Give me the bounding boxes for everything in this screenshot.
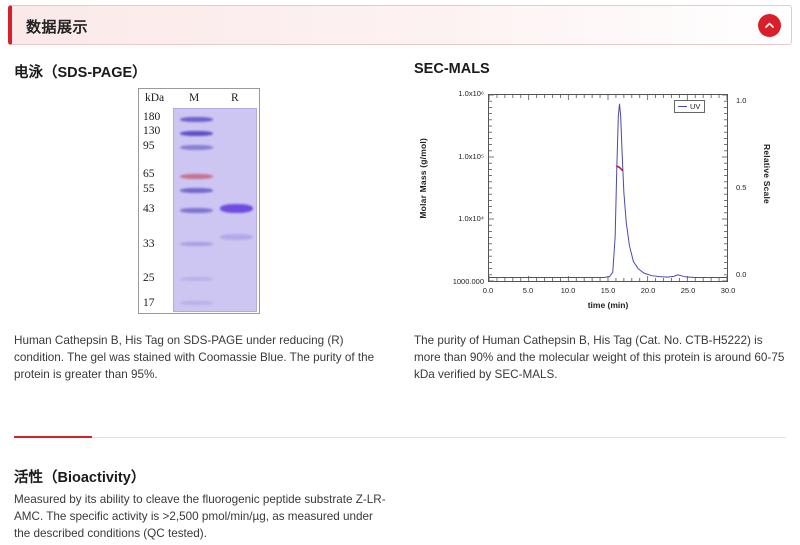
chart-x-tick: 0.0 bbox=[473, 286, 503, 295]
data-display-panel-header: 数据展示 bbox=[8, 5, 792, 45]
bioactivity-caption: Measured by its ability to cleave the fl… bbox=[14, 491, 389, 542]
chart-y-axis-label-left: Molar Mass (g/mol) bbox=[418, 138, 432, 219]
gel-ladder-band bbox=[180, 277, 213, 281]
chart-axis-tickmarks bbox=[489, 95, 727, 281]
chart-x-tick: 15.0 bbox=[593, 286, 623, 295]
chart-y-tick-left: 1000.000 bbox=[424, 277, 484, 286]
gel-ladder-band bbox=[180, 117, 213, 122]
gel-ladder-band bbox=[180, 174, 213, 179]
chart-legend[interactable]: UV bbox=[674, 100, 705, 113]
gel-marker-label: 33 bbox=[143, 238, 155, 250]
gel-lane-header-r: R bbox=[231, 92, 239, 104]
sec-mals-caption: The purity of Human Cathepsin B, His Tag… bbox=[414, 332, 789, 383]
gel-lane-header-m: M bbox=[189, 92, 199, 104]
gel-marker-label: 17 bbox=[143, 297, 155, 309]
chart-x-tick: 10.0 bbox=[553, 286, 583, 295]
chart-x-tick: 5.0 bbox=[513, 286, 543, 295]
gel-marker-label: 65 bbox=[143, 168, 155, 180]
gel-marker-label: 55 bbox=[143, 183, 155, 195]
chart-x-axis-label: time (min) bbox=[488, 300, 728, 310]
chart-plot-area bbox=[488, 94, 728, 282]
gel-lane-area bbox=[173, 108, 257, 312]
gel-marker-label: 95 bbox=[143, 140, 155, 152]
collapse-toggle-button[interactable] bbox=[758, 14, 781, 37]
chart-x-tick: 30.0 bbox=[713, 286, 743, 295]
gel-unit-header: kDa bbox=[145, 92, 164, 104]
legend-label-uv: UV bbox=[690, 102, 700, 111]
section-divider-accent bbox=[14, 436, 92, 438]
chart-y-tick-right: 1.0 bbox=[736, 96, 746, 105]
gel-ladder-band bbox=[180, 131, 213, 136]
gel-ladder-band bbox=[180, 208, 213, 213]
gel-sample-band bbox=[220, 234, 253, 240]
gel-marker-label: 180 bbox=[143, 111, 160, 123]
chart-y-axis-label-right: Relative Scale bbox=[758, 144, 772, 204]
chart-x-tick: 20.0 bbox=[633, 286, 663, 295]
sds-page-section-heading: 电泳（SDS-PAGE） bbox=[14, 61, 147, 82]
chart-series-uv bbox=[489, 104, 727, 278]
chart-y-tick-right: 0.0 bbox=[736, 270, 746, 279]
gel-sample-band bbox=[220, 204, 253, 213]
gel-ladder-band bbox=[180, 188, 213, 193]
gel-ladder-band bbox=[180, 301, 213, 305]
legend-swatch-uv bbox=[678, 106, 687, 107]
chart-y-tick-right: 0.5 bbox=[736, 183, 746, 192]
gel-marker-label: 43 bbox=[143, 203, 155, 215]
sec-mals-chart: Molar Mass (g/mol) Relative Scale 1.0x10… bbox=[416, 86, 784, 318]
chart-y-tick-left: 1.0x10⁵ bbox=[424, 152, 484, 161]
chevron-up-icon bbox=[763, 19, 776, 32]
gel-marker-label: 25 bbox=[143, 272, 155, 284]
gel-marker-label: 130 bbox=[143, 125, 160, 137]
sds-page-caption: Human Cathepsin B, His Tag on SDS-PAGE u… bbox=[14, 332, 389, 383]
gel-ladder-band bbox=[180, 145, 213, 150]
page-title: 数据展示 bbox=[26, 16, 88, 37]
chart-y-tick-left: 1.0x10⁴ bbox=[424, 214, 484, 223]
sec-mals-section-heading: SEC-MALS bbox=[414, 61, 490, 77]
bioactivity-section-heading: 活性（Bioactivity） bbox=[14, 466, 145, 487]
section-divider bbox=[14, 437, 786, 438]
gel-ladder-band bbox=[180, 242, 213, 246]
chart-traces bbox=[489, 95, 727, 281]
chart-y-tick-left: 1.0x10⁶ bbox=[424, 89, 484, 98]
sds-page-gel-figure: kDa M R 18013095655543332517 bbox=[138, 88, 260, 314]
chart-x-tick: 25.0 bbox=[673, 286, 703, 295]
